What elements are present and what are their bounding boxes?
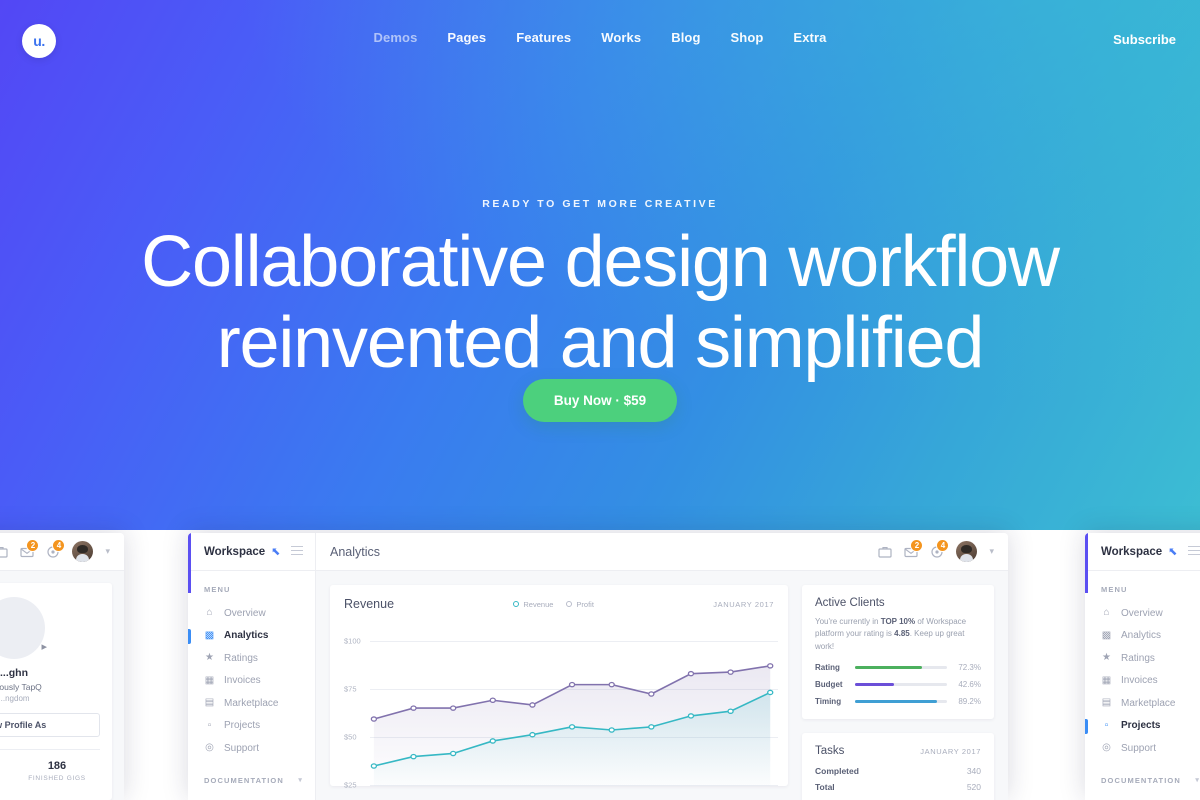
sidebar-item-label: Overview	[224, 608, 266, 619]
dashboard-preview-right: Workspace ⬉ MENU ⌂ Overview ▩ Analytics …	[1085, 533, 1200, 800]
desc-top: TOP 10%	[881, 617, 915, 626]
bar-chart-icon: ▩	[204, 631, 215, 641]
sidebar-item-analytics[interactable]: ▩ Analytics	[1085, 625, 1200, 648]
revenue-chart-card: Revenue Revenue Profit JANUARY 2017	[330, 585, 788, 786]
nav-item-blog[interactable]: Blog	[671, 30, 700, 45]
hero-eyebrow: READY TO GET MORE CREATIVE	[0, 198, 1200, 210]
metric-value: 89.2%	[947, 697, 981, 706]
center-body: MENU ⌂ Overview ▩ Analytics ★ Ratings ▦ …	[188, 571, 1008, 800]
sidebar-item-ratings[interactable]: ★ Ratings	[188, 647, 315, 670]
sidebar-item-label: Ratings	[1121, 653, 1155, 664]
sidebar-menu-label: MENU	[1085, 585, 1200, 594]
sidebar-item-overview[interactable]: ⌂ Overview	[188, 602, 315, 625]
metric-value: 42.6%	[947, 680, 981, 689]
center-topbar: Workspace ⬉ Analytics 2 4 ▾	[188, 533, 1008, 571]
sidebar-item-analytics[interactable]: ▩ Analytics	[188, 625, 315, 648]
metric-value: 72.3%	[947, 663, 981, 672]
profile-stat-value: 4	[0, 760, 14, 772]
legend-item-profit[interactable]: Profit	[566, 600, 594, 609]
sidebar-item-marketplace[interactable]: ▤ Marketplace	[188, 692, 315, 715]
star-icon: ★	[1101, 653, 1112, 663]
right-column: Active Clients You're currently in TOP 1…	[802, 585, 994, 786]
chart-lines	[370, 623, 778, 786]
legend-label-profit: Profit	[576, 600, 594, 609]
profile-stats: 4 NTS 186 FINISHED GIGS	[0, 749, 100, 782]
main-content: Revenue Revenue Profit JANUARY 2017	[316, 571, 1008, 800]
workspace-brand-label: Workspace	[204, 546, 265, 558]
nav-item-shop[interactable]: Shop	[731, 30, 764, 45]
chart-title: Revenue	[344, 597, 394, 611]
bell-icon[interactable]: 4	[930, 545, 944, 559]
workspace-brand[interactable]: Workspace ⬉	[1085, 533, 1200, 571]
sidebar-item-support[interactable]: ◎ Support	[188, 737, 315, 760]
dashboard-preview-left: 2 4 ▾ ▸ ...ghn ...viously TapQ ...ngdom …	[0, 533, 124, 800]
desc-pre: You're currently in	[815, 617, 881, 626]
briefcase-icon[interactable]	[878, 545, 892, 559]
home-icon: ⌂	[1101, 608, 1112, 618]
sidebar-item-label: Projects	[1121, 720, 1160, 731]
profile-stat: 4 NTS	[0, 760, 14, 782]
sidebar: MENU ⌂ Overview ▩ Analytics ★ Ratings ▦ …	[188, 571, 316, 800]
sidebar-documentation-label: DOCUMENTATION	[1085, 776, 1195, 785]
tasks-row: Total 520	[815, 782, 981, 792]
subscribe-link[interactable]: Subscribe	[1113, 32, 1176, 47]
sidebar-item-label: Marketplace	[224, 698, 278, 709]
tasks-card: Tasks JANUARY 2017 Completed 340 Total 5…	[802, 733, 994, 800]
sidebar-documentation-row[interactable]: DOCUMENTATION ▾	[1085, 776, 1200, 785]
progress-bar	[855, 666, 947, 669]
profile-location: ...ngdom	[0, 694, 100, 703]
chart-legend: Revenue Profit	[513, 600, 594, 609]
sidebar-item-label: Invoices	[224, 675, 261, 686]
profile-name: ...ghn	[0, 667, 100, 679]
tasks-row-label: Total	[815, 782, 835, 792]
top-navigation: u. Demos Pages Features Works Blog Shop …	[0, 0, 1200, 82]
sidebar-item-label: Overview	[1121, 608, 1163, 619]
right-topbar: Workspace ⬉	[1085, 533, 1200, 571]
left-topbar: 2 4 ▾	[0, 533, 124, 571]
star-icon: ★	[204, 653, 215, 663]
sparkline-icon: ⬉	[1168, 545, 1177, 558]
hero-cta-wrap: Buy Now · $59	[0, 379, 1200, 422]
mail-badge: 2	[26, 539, 39, 552]
tasks-row-value: 340	[967, 766, 981, 776]
store-icon: ▤	[1101, 698, 1112, 708]
profile-stat-label: FINISHED GIGS	[14, 775, 100, 782]
sidebar-item-marketplace[interactable]: ▤ Marketplace	[1085, 692, 1200, 715]
profile-stat-label: NTS	[0, 775, 14, 782]
hamburger-icon[interactable]	[291, 546, 303, 558]
bell-icon[interactable]: 4	[46, 545, 60, 559]
sidebar-item-label: Projects	[224, 720, 260, 731]
sidebar-item-overview[interactable]: ⌂ Overview	[1085, 602, 1200, 625]
nav-links: Demos Pages Features Works Blog Shop Ext…	[0, 30, 1200, 45]
sparkline-icon: ⬉	[271, 545, 280, 558]
avatar[interactable]	[956, 541, 977, 562]
hero-headline-line-2: reinvented and simplified	[0, 303, 1200, 384]
sidebar-documentation-row[interactable]: DOCUMENTATION ▾	[188, 776, 315, 785]
sidebar-item-ratings[interactable]: ★ Ratings	[1085, 647, 1200, 670]
bar-chart-icon: ▩	[1101, 631, 1112, 641]
legend-label-revenue: Revenue	[523, 600, 553, 609]
dashboard-preview-center: Workspace ⬉ Analytics 2 4 ▾ MENU	[188, 533, 1008, 800]
buy-now-button[interactable]: Buy Now · $59	[523, 379, 677, 422]
hero-headline: Collaborative design workflow reinvented…	[0, 222, 1200, 383]
tasks-title: Tasks	[815, 745, 844, 757]
mail-badge: 2	[910, 539, 923, 552]
workspace-brand[interactable]: Workspace ⬉	[188, 533, 316, 571]
view-profile-as-button[interactable]: View Profile As	[0, 713, 100, 737]
tasks-row-value: 520	[967, 782, 981, 792]
right-body: MENU ⌂ Overview ▩ Analytics ★ Ratings ▦ …	[1085, 571, 1200, 800]
legend-dot-revenue	[513, 601, 519, 607]
active-clients-row: Timing 89.2%	[815, 697, 981, 706]
y-tick-label: $50	[344, 733, 357, 742]
page-title: Analytics	[316, 545, 380, 559]
y-tick-label: $100	[344, 637, 361, 646]
nav-item-features[interactable]: Features	[516, 30, 571, 45]
tasks-row-label: Completed	[815, 766, 859, 776]
tasks-header: Tasks JANUARY 2017	[815, 745, 981, 757]
sidebar-right: MENU ⌂ Overview ▩ Analytics ★ Ratings ▦ …	[1085, 571, 1200, 800]
bell-badge: 4	[52, 539, 65, 552]
sidebar-documentation-label: DOCUMENTATION	[188, 776, 298, 785]
center-topbar-actions: 2 4 ▾	[878, 541, 1008, 562]
left-topbar-actions: 2 4 ▾	[0, 541, 124, 562]
profile-stat: 186 FINISHED GIGS	[14, 760, 100, 782]
play-icon[interactable]: ▸	[41, 640, 47, 653]
chart-date: JANUARY 2017	[713, 600, 774, 609]
sidebar-item-label: Analytics	[1121, 630, 1161, 641]
invoice-icon: ▦	[1101, 676, 1112, 686]
sidebar-item-label: Ratings	[224, 653, 258, 664]
sidebar-item-projects[interactable]: ▫ Projects	[1085, 715, 1200, 738]
metric-label: Timing	[815, 697, 855, 706]
tasks-row: Completed 340	[815, 766, 981, 776]
progress-bar	[855, 700, 947, 703]
sidebar-item-label: Analytics	[224, 630, 268, 641]
active-clients-row: Budget 42.6%	[815, 680, 981, 689]
lifebuoy-icon: ◎	[204, 743, 215, 753]
active-clients-description: You're currently in TOP 10% of Workspace…	[815, 616, 981, 653]
metric-label: Budget	[815, 680, 855, 689]
hamburger-icon[interactable]	[1188, 546, 1200, 558]
profile-stat-value: 186	[14, 760, 100, 772]
metric-label: Rating	[815, 663, 855, 672]
chart-plot-area: $100 $75 $50 $25	[344, 623, 778, 786]
sidebar-item-invoices[interactable]: ▦ Invoices	[188, 670, 315, 693]
sidebar-item-projects[interactable]: ▫ Projects	[188, 715, 315, 738]
nav-item-works[interactable]: Works	[601, 30, 641, 45]
invoice-icon: ▦	[204, 676, 215, 686]
active-clients-title: Active Clients	[815, 597, 981, 609]
workspace-brand-label: Workspace	[1101, 546, 1162, 558]
profile-subtitle: ...viously TapQ	[0, 682, 100, 692]
chevron-down-icon[interactable]: ▾	[989, 546, 994, 557]
sidebar-item-label: Support	[224, 743, 259, 754]
y-tick-label: $25	[344, 781, 357, 790]
bell-badge: 4	[936, 539, 949, 552]
mail-icon[interactable]: 2	[20, 545, 34, 559]
chevron-down-icon: ▾	[1195, 776, 1200, 784]
sidebar-item-invoices[interactable]: ▦ Invoices	[1085, 670, 1200, 693]
chat-icon: ▫	[204, 721, 215, 731]
lifebuoy-icon: ◎	[1101, 743, 1112, 753]
chevron-down-icon: ▾	[298, 776, 303, 784]
nav-item-pages[interactable]: Pages	[447, 30, 486, 45]
briefcase-icon[interactable]	[0, 545, 8, 559]
legend-dot-profit	[566, 601, 572, 607]
sidebar-menu-label: MENU	[188, 585, 315, 594]
home-icon: ⌂	[204, 608, 215, 618]
avatar[interactable]	[72, 541, 93, 562]
sidebar-item-support[interactable]: ◎ Support	[1085, 737, 1200, 760]
profile-card: ▸ ...ghn ...viously TapQ ...ngdom View P…	[0, 583, 112, 800]
store-icon: ▤	[204, 698, 215, 708]
desc-rating: 4.85	[894, 629, 910, 638]
mail-icon[interactable]: 2	[904, 545, 918, 559]
sidebar-item-label: Marketplace	[1121, 698, 1175, 709]
chat-icon: ▫	[1101, 721, 1112, 731]
nav-item-demos[interactable]: Demos	[374, 30, 418, 45]
profile-picture: ▸	[0, 597, 45, 659]
sidebar-item-label: Support	[1121, 743, 1156, 754]
tasks-date: JANUARY 2017	[920, 747, 981, 756]
nav-item-extra[interactable]: Extra	[793, 30, 826, 45]
chevron-down-icon[interactable]: ▾	[105, 546, 110, 557]
legend-item-revenue[interactable]: Revenue	[513, 600, 553, 609]
profile-panel: ▸ ...ghn ...viously TapQ ...ngdom View P…	[0, 571, 124, 800]
chart-header: Revenue Revenue Profit JANUARY 2017	[344, 597, 774, 611]
sidebar-item-label: Invoices	[1121, 675, 1158, 686]
sidebar-accent-bar	[188, 533, 191, 593]
sidebar-accent-bar	[1085, 533, 1088, 593]
progress-bar	[855, 683, 947, 686]
hero-headline-line-1: Collaborative design workflow	[0, 222, 1200, 303]
active-clients-row: Rating 72.3%	[815, 663, 981, 672]
y-tick-label: $75	[344, 685, 357, 694]
active-clients-card: Active Clients You're currently in TOP 1…	[802, 585, 994, 719]
